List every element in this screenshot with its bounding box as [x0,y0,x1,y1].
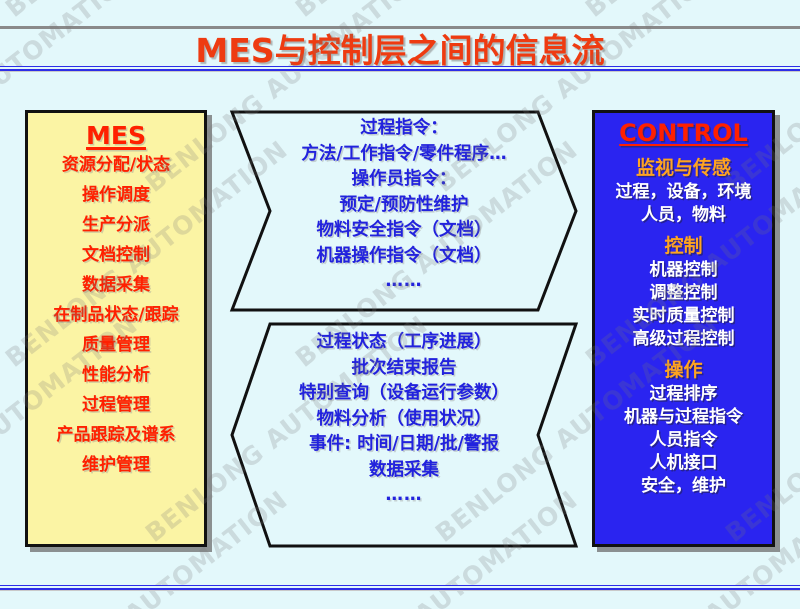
arrow-mes-to-control-text: 过程指令： 方法/工作指令/零件程序… 操作员指令： 预定/预防性维护 物料安全… [228,108,580,299]
mes-item: 资源分配/状态 [62,157,170,174]
arrow-line: 机器操作指令（文档） [228,248,580,266]
arrow-line: 预定/预防性维护 [228,197,580,215]
page-title-text: MES与控制层之间的信息流 [195,31,604,70]
control-item: 机器控制 [650,261,718,280]
control-item: 人员指令 [650,431,718,450]
control-item: 调整控制 [650,284,718,303]
watermark-text: BENLONG AUTOMATION [0,0,3,23]
mes-item: 数据采集 [82,277,150,294]
arrow-line: 操作员指令： [228,171,580,189]
arrow-line-ellipsis: …… [228,487,580,505]
mes-panel-title: MES [86,121,146,150]
arrow-control-to-mes: 过程状态（工序进展） 批次结束报告 特别查询（设备运行参数） 物料分析（使用状况… [228,320,580,550]
arrow-mes-to-control: 过程指令： 方法/工作指令/零件程序… 操作员指令： 预定/预防性维护 物料安全… [228,108,580,314]
control-panel-title: CONTROL [619,119,748,147]
arrow-line: 过程指令： [228,120,580,138]
arrow-control-to-mes-text: 过程状态（工序进展） 批次结束报告 特别查询（设备运行参数） 物料分析（使用状况… [228,320,580,513]
control-item: 高级过程控制 [633,330,735,349]
arrow-line: 数据采集 [228,462,580,480]
mes-item: 过程管理 [82,397,150,414]
slide-canvas: MES与控制层之间的信息流 MES 资源分配/状态 操作调度 生产分派 文档控制… [0,0,800,609]
mes-item: 生产分派 [82,217,150,234]
control-group-heading: 监视与传感 [636,153,731,180]
arrow-line: 方法/工作指令/零件程序… [228,146,580,164]
mes-item: 在制品状态/跟踪 [53,307,178,324]
watermark-text: BENLONG AUTOMATION [0,0,293,23]
arrow-line: 事件: 时间/日期/批/警报 [228,436,580,454]
arrow-line: 过程状态（工序进展） [228,334,580,352]
watermark-text: BENLONG AUTOMATION [290,0,583,23]
control-item: 人机接口 [650,454,718,473]
arrow-line: 物料分析（使用状况） [228,411,580,429]
watermark-text: BENLONG AUTOMATION [0,135,3,373]
arrow-line: 特别查询（设备运行参数） [228,385,580,403]
title-rule-blue-top [0,66,800,72]
mes-item: 产品跟踪及谱系 [57,427,176,444]
mes-item: 文档控制 [82,247,150,264]
watermark-text: BENLONG AUTOMATION [580,0,800,23]
control-item: 安全，维护 [641,477,726,496]
footer-rule-blue [0,585,800,591]
page-title: MES与控制层之间的信息流 [0,24,800,72]
control-item: 过程排序 [650,385,718,404]
control-item: 人员，物料 [641,206,726,225]
arrow-line-ellipsis: …… [228,273,580,291]
control-item: 实时质量控制 [633,307,735,326]
mes-item: 质量管理 [82,337,150,354]
mes-panel: MES 资源分配/状态 操作调度 生产分派 文档控制 数据采集 在制品状态/跟踪… [25,110,207,547]
control-group-heading: 控制 [664,231,702,258]
mes-item: 操作调度 [82,187,150,204]
mes-item: 维护管理 [82,457,150,474]
control-panel: CONTROL 监视与传感 过程，设备，环境 人员，物料 控制 机器控制 调整控… [592,110,775,547]
mes-item: 性能分析 [82,367,150,384]
arrow-line: 批次结束报告 [228,360,580,378]
control-group-heading: 操作 [664,355,702,382]
arrow-line: 物料安全指令（文档） [228,222,580,240]
control-item: 机器与过程指令 [624,408,743,427]
control-item: 过程，设备，环境 [616,183,752,202]
